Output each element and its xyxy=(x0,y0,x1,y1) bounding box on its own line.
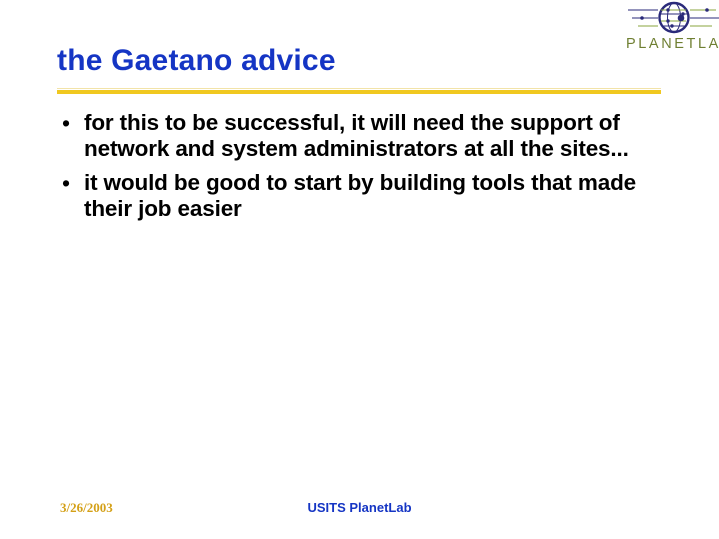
slide-body: • for this to be successful, it will nee… xyxy=(62,110,662,230)
list-item: • for this to be successful, it will nee… xyxy=(62,110,662,162)
planetlab-logo: PLANETLAB xyxy=(620,0,719,56)
planetlab-globe-icon xyxy=(628,1,719,34)
slide-canvas: PLANETLAB the Gaetano advice • for this … xyxy=(0,0,719,539)
rule-main-line xyxy=(57,90,661,94)
slide-title: the Gaetano advice xyxy=(57,44,336,78)
planetlab-wordmark: PLANETLAB xyxy=(620,34,719,54)
bullet-text: for this to be successful, it will need … xyxy=(84,110,662,162)
bullet-marker-icon: • xyxy=(62,110,84,136)
bullet-text: it would be good to start by building to… xyxy=(84,170,662,222)
footer-title: USITS PlanetLab xyxy=(0,500,719,515)
title-divider-rule xyxy=(57,88,661,94)
list-item: • it would be good to start by building … xyxy=(62,170,662,222)
bullet-marker-icon: • xyxy=(62,170,84,196)
